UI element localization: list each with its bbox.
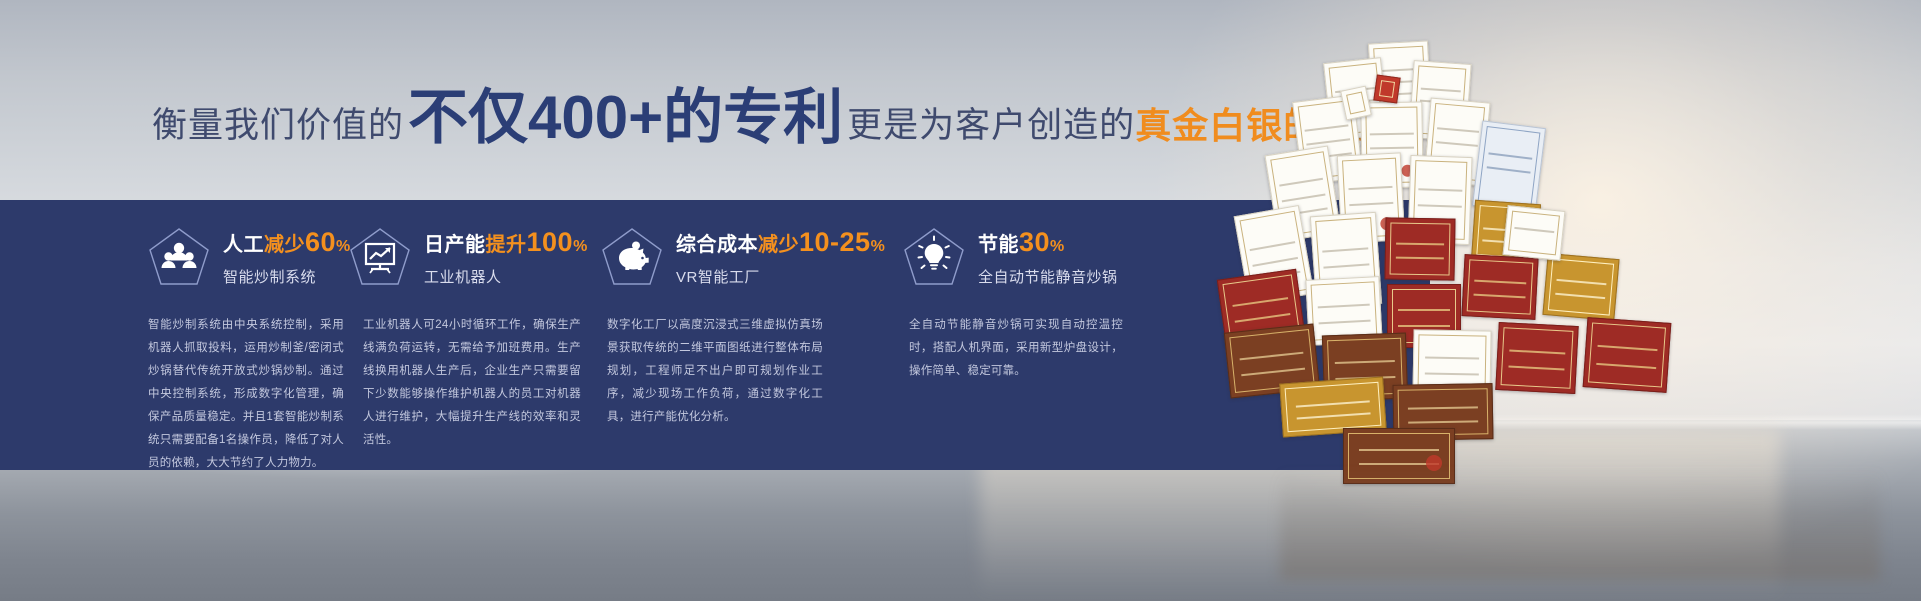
feature-header-2: 日产能提升100% 工业机器人 (349, 222, 600, 292)
feature-title-prefix-1: 人工 (223, 234, 264, 256)
feature-column-2: 日产能提升100% 工业机器人 工业机器人可24小时循环工作，确保生产线满负荷运… (342, 200, 600, 470)
feature-subtitle-2: 工业机器人 (424, 266, 588, 287)
feature-body-4: 全自动节能静音炒锅可实现自动控温控时，搭配人机界面，采用新型炉盘设计，操作简单、… (909, 314, 1123, 383)
certificate (1542, 253, 1619, 321)
people-pentagon-icon (148, 227, 210, 287)
feature-body-2: 工业机器人可24小时循环工作，确保生产线满负荷运转，无需给予加班费用。生产线换用… (363, 314, 581, 452)
feature-column-4: 节能30% 全自动节能静音炒锅 全自动节能静音炒锅可实现自动控温控时，搭配人机界… (863, 200, 1163, 470)
feature-header-1: 人工减少60% 智能炒制系统 (148, 222, 342, 292)
feature-title-4: 节能30% (978, 227, 1118, 258)
feature-header-3: 综合成本减少10-25% VR智能工厂 (601, 222, 863, 292)
feature-title-number-2: 100 (527, 227, 574, 257)
certificate (1583, 317, 1672, 393)
headline-middle: 更是为客户创造的 (847, 108, 1135, 148)
feature-title-number-3: 10-25 (799, 227, 871, 257)
feature-title-1: 人工减少60% (223, 227, 351, 258)
feature-subtitle-1: 智能炒制系统 (223, 266, 351, 287)
lightbulb-pentagon-icon (903, 227, 965, 287)
feature-title-prefix-4: 节能 (978, 234, 1019, 256)
certificate (1495, 322, 1578, 394)
feature-header-4: 节能30% 全自动节能静音炒锅 (903, 222, 1163, 292)
feature-title-unit-4: % (1050, 238, 1065, 255)
feature-title-prefix-2: 日产能 (424, 234, 486, 256)
feature-title-highlight-3: 减少 (758, 234, 799, 256)
chart-board-pentagon-icon (349, 227, 411, 287)
certificate (1503, 205, 1566, 261)
certificate-reflection (1280, 470, 1880, 580)
feature-title-2: 日产能提升100% (424, 227, 588, 258)
banner-stage: 衡量我们价值的 不仅400+的专利 更是为客户创造的 真金白银的效益 (0, 0, 1921, 601)
certificate (1373, 74, 1400, 103)
feature-column-3: 综合成本减少10-25% VR智能工厂 数字化工厂以高度沉浸式三维虚拟仿真场景获… (600, 200, 863, 470)
headline-emphasis: 不仅400+的专利 (404, 88, 847, 148)
feature-title-number-4: 30 (1019, 227, 1050, 257)
certificate (1384, 217, 1455, 280)
feature-title-3: 综合成本减少10-25% (676, 227, 885, 258)
piggy-bank-pentagon-icon (601, 227, 663, 287)
certificate (1461, 254, 1538, 320)
feature-column-1: 人工减少60% 智能炒制系统 智能炒制系统由中央系统控制，采用机器人抓取投料，运… (0, 200, 342, 470)
headline-prefix: 衡量我们价值的 (152, 108, 404, 148)
feature-title-highlight-2: 提升 (486, 234, 527, 256)
feature-title-number-1: 60 (305, 227, 336, 257)
feature-subtitle-3: VR智能工厂 (676, 266, 885, 287)
feature-body-3: 数字化工厂以高度沉浸式三维虚拟仿真场景获取传统的二维平面图纸进行整体布局规划，工… (607, 314, 823, 429)
feature-body-1: 智能炒制系统由中央系统控制，采用机器人抓取投料，运用炒制釜/密闭式炒锅替代传统开… (148, 314, 344, 475)
feature-title-unit-2: % (573, 238, 588, 255)
feature-subtitle-4: 全自动节能静音炒锅 (978, 266, 1118, 287)
feature-title-highlight-1: 减少 (264, 234, 305, 256)
certificate-wall (1215, 28, 1921, 498)
feature-title-prefix-3: 综合成本 (676, 234, 758, 256)
